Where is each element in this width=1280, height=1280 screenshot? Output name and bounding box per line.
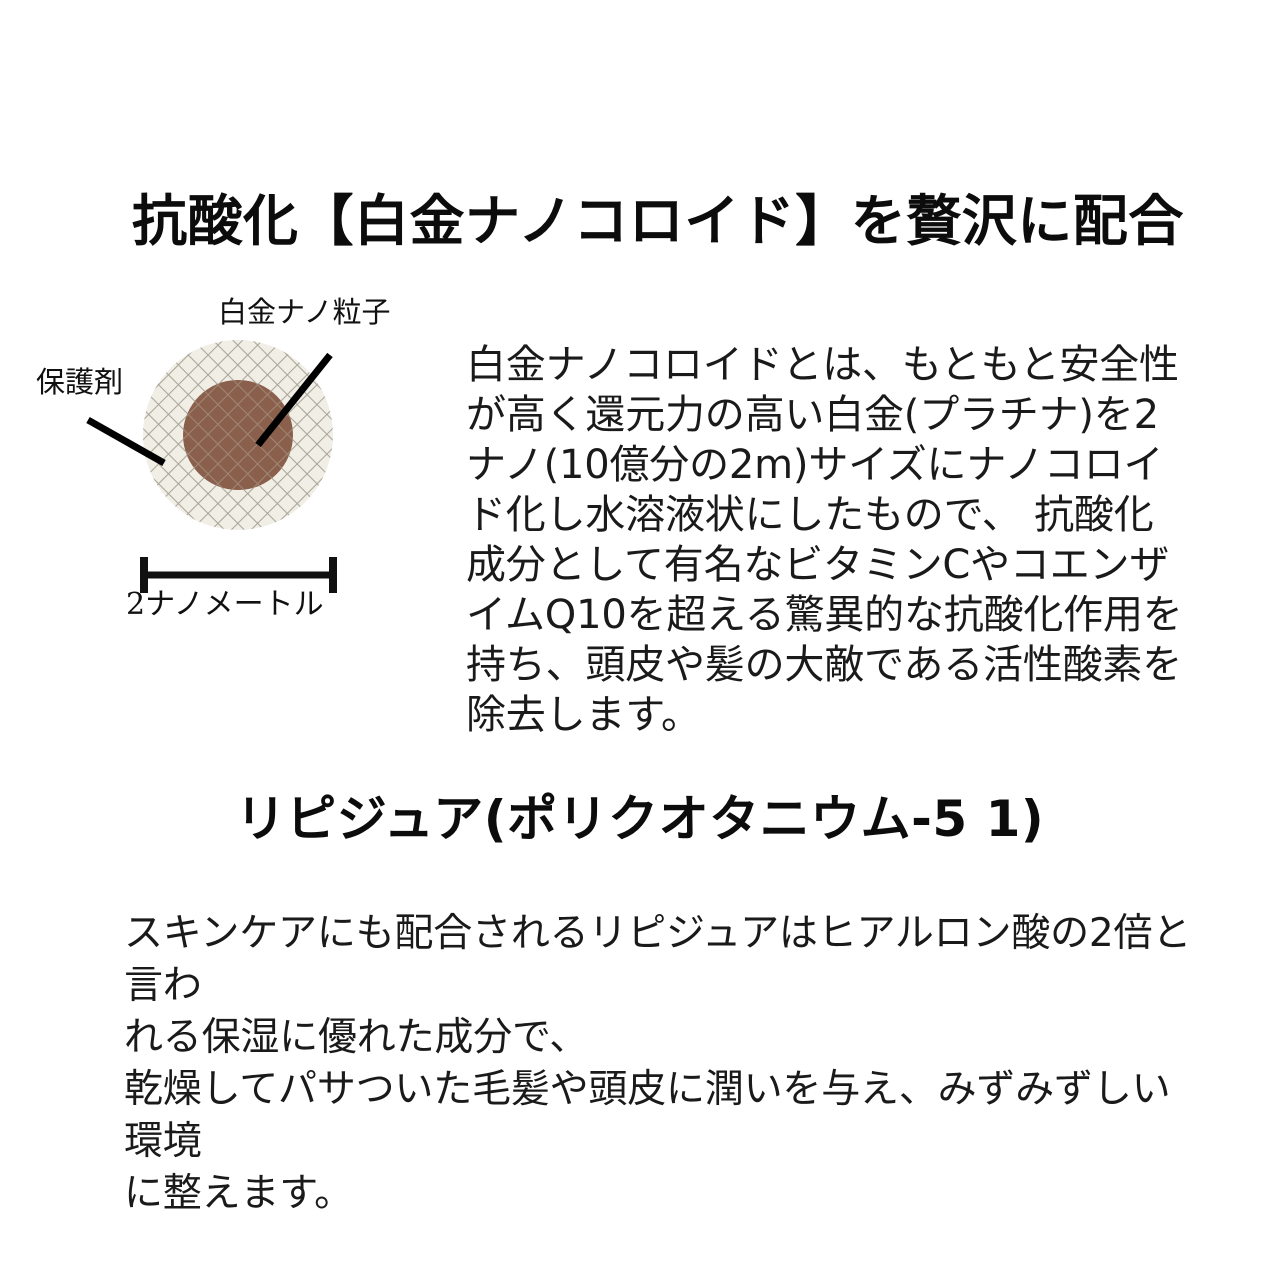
platinum-core-circle bbox=[183, 380, 293, 490]
platinum-description-paragraph: 白金ナノコロイドとは、もともと安全性が高く還元力の高い白金(プラチナ)を2ナノ(… bbox=[466, 340, 1192, 740]
page-root: 抗酸化【白金ナノコロイド】を贅沢に配合 bbox=[0, 0, 1280, 1280]
diagram-label-protector: 保護剤 bbox=[36, 367, 123, 399]
diagram-label-platinum-particle: 白金ナノ粒子 bbox=[218, 297, 391, 329]
page-title-platinum: 抗酸化【白金ナノコロイド】を贅沢に配合 bbox=[132, 189, 1162, 254]
page-title-lipidure: リピジュア(ポリクオタニウム-5 1) bbox=[0, 790, 1280, 849]
lipidure-line-1: スキンケアにも配合されるリピジュアはヒアルロン酸の2倍と言わ bbox=[124, 908, 1204, 1012]
lipidure-line-4: に整えます。 bbox=[124, 1168, 1204, 1220]
lipidure-description-paragraph: スキンケアにも配合されるリピジュアはヒアルロン酸の2倍と言わ れる保湿に優れた成… bbox=[124, 908, 1204, 1220]
diagram-label-scale: 2ナノメートル bbox=[126, 588, 324, 621]
lipidure-line-2: れる保湿に優れた成分で、 bbox=[124, 1012, 1204, 1064]
lipidure-line-3: 乾燥してパサついた毛髪や頭皮に潤いを与え、みずみずしい環境 bbox=[124, 1064, 1204, 1168]
